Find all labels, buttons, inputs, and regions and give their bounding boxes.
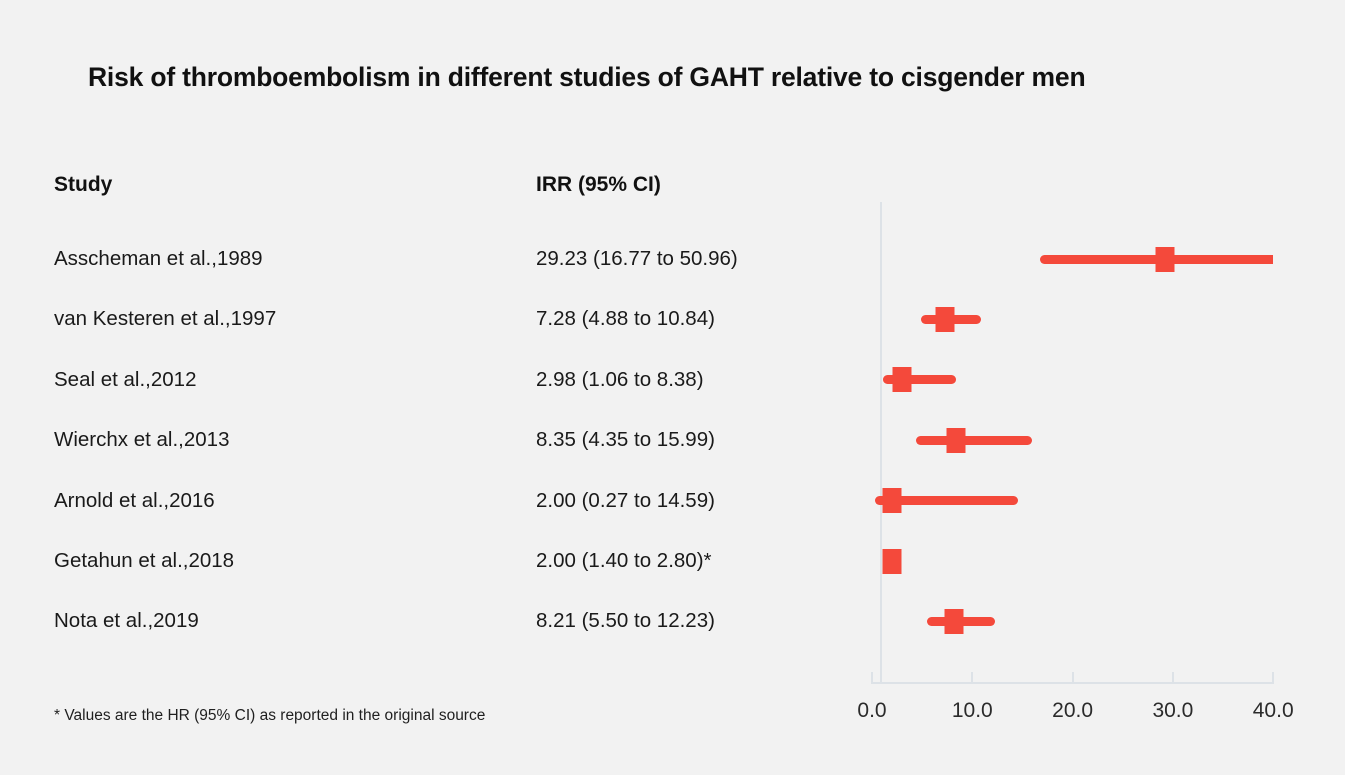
study-name: Nota et al.,2019 (54, 604, 199, 638)
study-name: Wierchx et al.,2013 (54, 423, 229, 457)
forest-plot-figure: Risk of thromboembolism in different stu… (0, 0, 1345, 775)
effect-estimate: 8.35 (4.35 to 15.99) (536, 423, 715, 457)
effect-estimate: 2.00 (0.27 to 14.59) (536, 484, 715, 518)
effect-estimate: 7.28 (4.88 to 10.84) (536, 302, 715, 336)
effect-estimate: 29.23 (16.77 to 50.96) (536, 242, 738, 276)
study-name: Arnold et al.,2016 (54, 484, 215, 518)
table-row: Getahun et al.,20182.00 (1.40 to 2.80)* (0, 544, 1345, 578)
table-row: van Kesteren et al.,19977.28 (4.88 to 10… (0, 302, 1345, 336)
study-rows: Asscheman et al.,198929.23 (16.77 to 50.… (0, 0, 1345, 775)
effect-estimate: 8.21 (5.50 to 12.23) (536, 604, 715, 638)
study-name: Getahun et al.,2018 (54, 544, 234, 578)
study-name: Seal et al.,2012 (54, 363, 196, 397)
footnote: * Values are the HR (95% CI) as reported… (54, 707, 485, 725)
table-row: Arnold et al.,20162.00 (0.27 to 14.59) (0, 484, 1345, 518)
study-name: Asscheman et al.,1989 (54, 242, 263, 276)
table-row: Seal et al.,20122.98 (1.06 to 8.38) (0, 363, 1345, 397)
table-row: Asscheman et al.,198929.23 (16.77 to 50.… (0, 242, 1345, 276)
table-row: Wierchx et al.,20138.35 (4.35 to 15.99) (0, 423, 1345, 457)
effect-estimate: 2.00 (1.40 to 2.80)* (536, 544, 712, 578)
table-row: Nota et al.,20198.21 (5.50 to 12.23) (0, 604, 1345, 638)
effect-estimate: 2.98 (1.06 to 8.38) (536, 363, 704, 397)
study-name: van Kesteren et al.,1997 (54, 302, 276, 336)
